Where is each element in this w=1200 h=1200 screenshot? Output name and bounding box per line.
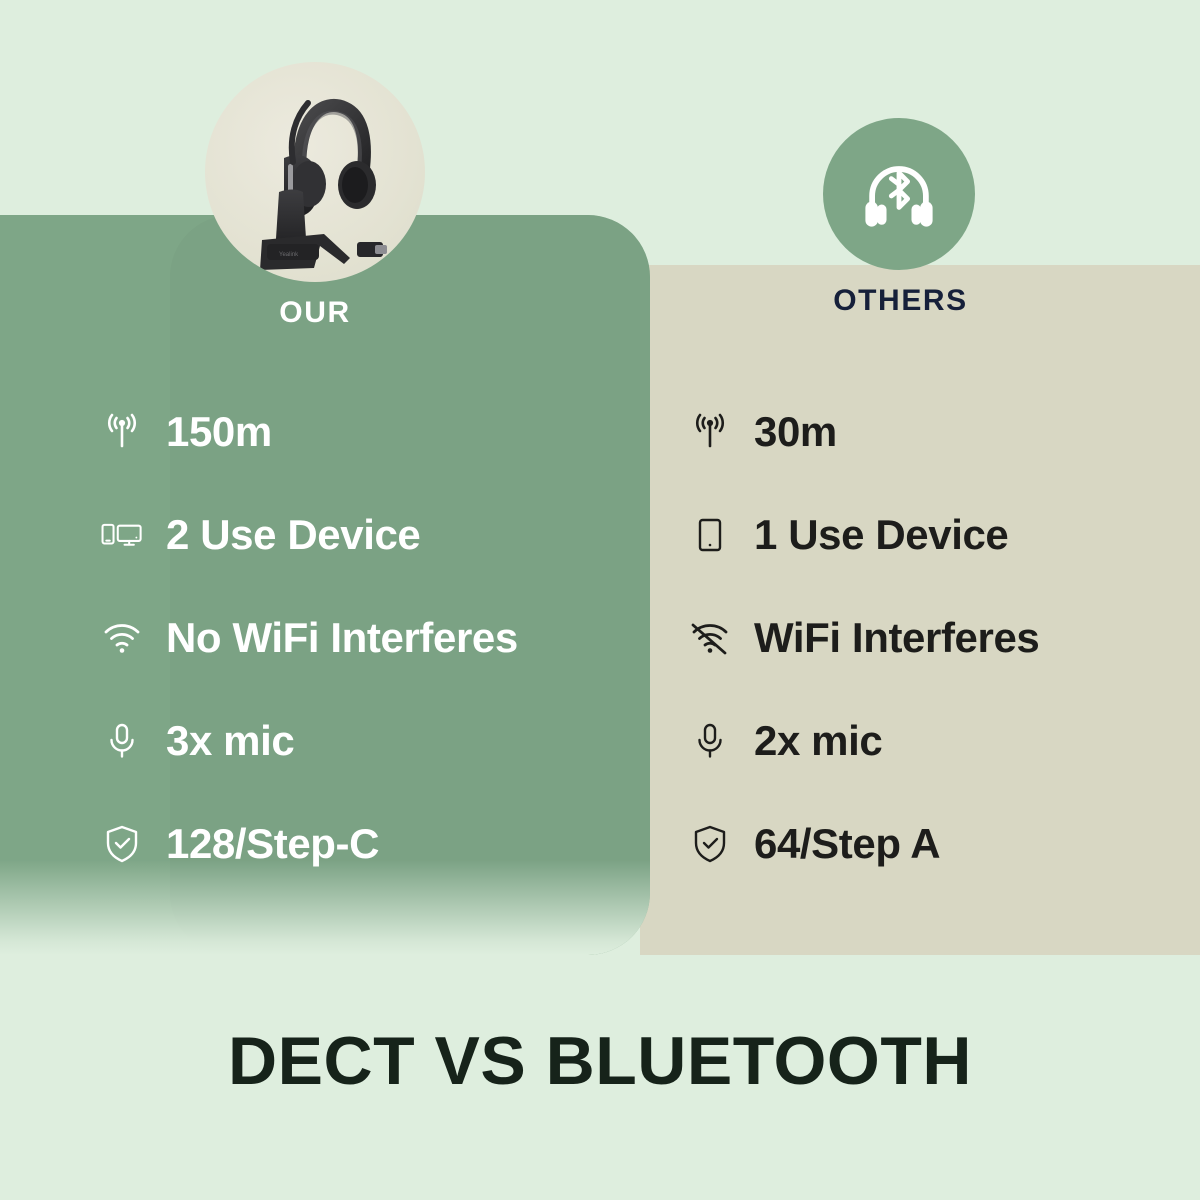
wifi-off-icon	[688, 616, 732, 660]
shield-check-icon	[100, 822, 144, 866]
headset-product-image: Yealink	[205, 62, 425, 282]
feature-label: 150m	[166, 408, 272, 456]
feature-row: 150m	[100, 405, 518, 459]
our-column-header: Yealink OUR	[205, 62, 425, 330]
wifi-icon	[100, 616, 144, 660]
feature-row: No WiFi Interferes	[100, 611, 518, 665]
microphone-icon	[100, 719, 144, 763]
our-feature-list: 150m 2 Use Device	[100, 405, 518, 871]
our-title: OUR	[205, 296, 425, 330]
signal-tower-icon	[100, 410, 144, 454]
feature-row: 3x mic	[100, 714, 518, 768]
feature-label: 1 Use Device	[754, 511, 1008, 559]
feature-label: 3x mic	[166, 717, 294, 765]
bluetooth-headphones-icon	[823, 118, 975, 270]
comparison-stage: Yealink OUR OTHERS	[0, 0, 1200, 1200]
others-title: OTHERS	[823, 284, 978, 318]
feature-label: 2x mic	[754, 717, 882, 765]
feature-label: 128/Step-C	[166, 820, 379, 868]
others-column-header: OTHERS	[823, 118, 978, 318]
feature-row: 128/Step-C	[100, 817, 518, 871]
signal-tower-icon	[688, 410, 732, 454]
feature-label: 2 Use Device	[166, 511, 420, 559]
page-title: DECT VS BLUETOOTH	[0, 1022, 1200, 1100]
feature-row: 64/Step A	[688, 817, 1039, 871]
feature-row: WiFi Interferes	[688, 611, 1039, 665]
feature-label: 64/Step A	[754, 820, 940, 868]
feature-row: 2 Use Device	[100, 508, 518, 562]
microphone-icon	[688, 719, 732, 763]
tablet-icon	[688, 513, 732, 557]
others-feature-list: 30m 1 Use Device	[688, 405, 1039, 871]
feature-row: 1 Use Device	[688, 508, 1039, 562]
feature-row: 30m	[688, 405, 1039, 459]
feature-row: 2x mic	[688, 714, 1039, 768]
feature-label: 30m	[754, 408, 837, 456]
feature-label: WiFi Interferes	[754, 614, 1039, 662]
tablet-and-monitor-icon	[100, 513, 144, 557]
svg-text:Yealink: Yealink	[279, 252, 299, 258]
feature-label: No WiFi Interferes	[166, 614, 518, 662]
shield-check-icon	[688, 822, 732, 866]
